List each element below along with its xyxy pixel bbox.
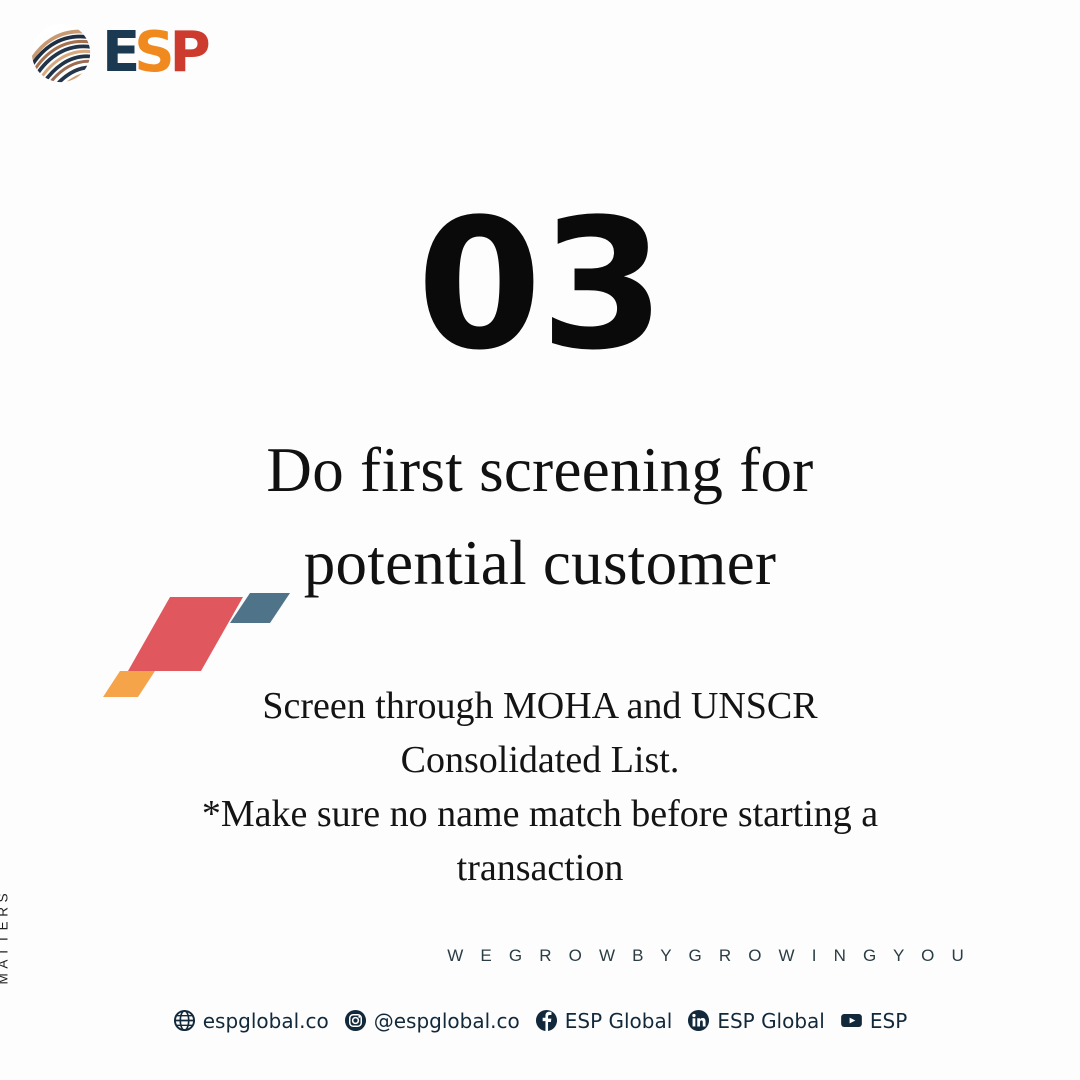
- body-copy: Screen through MOHA and UNSCR Consolidat…: [110, 680, 970, 896]
- social-item-instagram[interactable]: @espglobal.co: [344, 1009, 520, 1032]
- social-item-youtube[interactable]: ESP: [840, 1009, 907, 1032]
- youtube-icon: [840, 1009, 863, 1032]
- body-line-1: Screen through MOHA and UNSCR: [110, 680, 970, 734]
- linkedin-icon: [687, 1009, 710, 1032]
- body-line-4: transaction: [110, 842, 970, 896]
- globe-icon: [173, 1009, 196, 1032]
- fingerprint-circle-icon: [30, 22, 92, 84]
- social-footer: espglobal.co @espglobal.co ESP Globa: [0, 1009, 1080, 1032]
- social-post-slide: ESP ANTI-TERRORISM AND MONEY LAUNDRY ACT…: [0, 0, 1080, 1080]
- social-item-facebook[interactable]: ESP Global: [535, 1009, 673, 1032]
- parallelogram-red: [128, 597, 243, 671]
- wordmark-letter-e: E: [102, 25, 138, 81]
- wordmark-letter-s: S: [134, 25, 172, 81]
- body-line-2: Consolidated List.: [110, 734, 970, 788]
- body-line-3: *Make sure no name match before starting…: [110, 788, 970, 842]
- social-label-facebook: ESP Global: [565, 1011, 673, 1031]
- instagram-icon: [344, 1009, 367, 1032]
- step-number: 03: [0, 196, 1080, 376]
- wordmark-letter-p: P: [170, 25, 209, 81]
- facebook-icon: [535, 1009, 558, 1032]
- social-label-website: espglobal.co: [203, 1011, 329, 1031]
- headline-line-1: Do first screening for: [120, 424, 960, 517]
- vertical-campaign-label: ANTI-TERRORISM AND MONEY LAUNDRY ACT [AM…: [0, 424, 14, 984]
- social-label-instagram: @espglobal.co: [374, 1011, 520, 1031]
- social-item-website[interactable]: espglobal.co: [173, 1009, 329, 1032]
- social-label-linkedin: ESP Global: [717, 1011, 825, 1031]
- brand-logo[interactable]: ESP: [30, 22, 209, 84]
- vertical-label-line-2: MATTERS: [0, 424, 14, 984]
- brand-wordmark: ESP: [102, 25, 209, 81]
- social-label-youtube: ESP: [870, 1011, 907, 1031]
- brand-tagline: W E G R O W B Y G R O W I N G Y O U: [447, 946, 970, 966]
- social-item-linkedin[interactable]: ESP Global: [687, 1009, 825, 1032]
